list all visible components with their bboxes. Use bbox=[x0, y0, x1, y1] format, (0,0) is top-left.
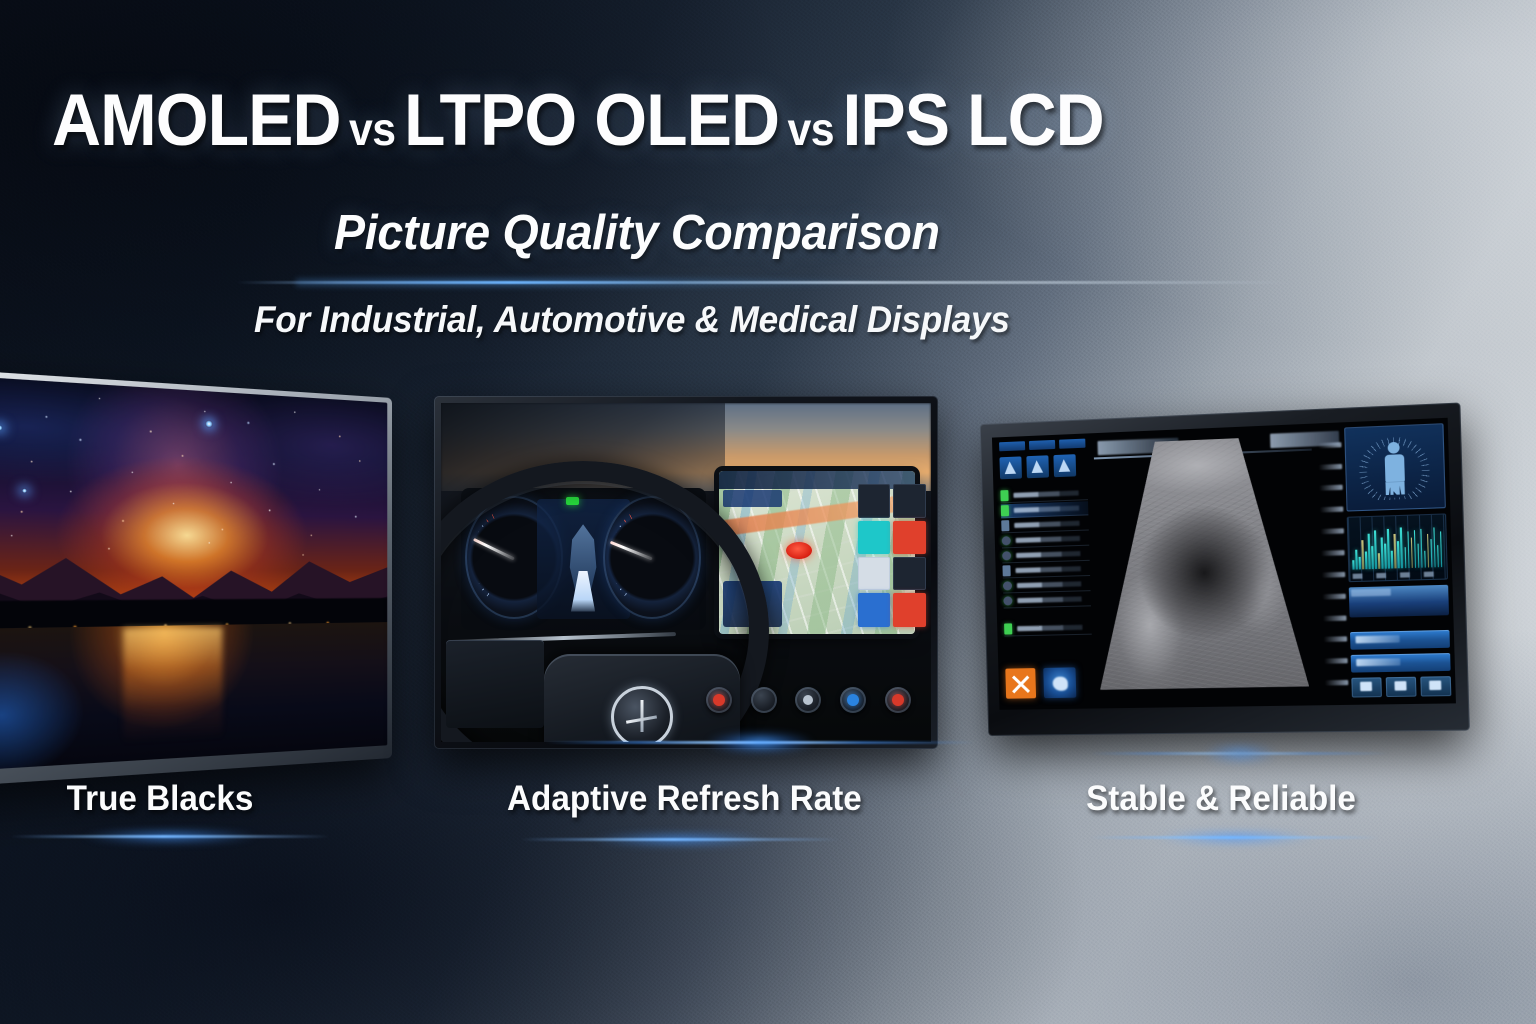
left-control-panel[interactable] bbox=[446, 640, 544, 728]
sidebar-tab[interactable] bbox=[999, 442, 1025, 452]
ultrasound-right-panel[interactable] bbox=[1344, 424, 1451, 700]
chart-bar bbox=[1420, 528, 1423, 567]
status-dot-icon bbox=[1004, 624, 1012, 635]
title-amoled: AMOLED bbox=[52, 80, 341, 161]
page-subtitle: Picture Quality Comparison bbox=[334, 205, 940, 261]
chart-bar bbox=[1410, 538, 1413, 568]
caption-glow-amoled bbox=[10, 835, 330, 838]
chart-bar bbox=[1413, 530, 1416, 568]
probe-mode-icon[interactable] bbox=[1053, 455, 1076, 478]
title-ltpo-oled: LTPO OLED bbox=[404, 80, 779, 161]
display-panel-ltpo-oled[interactable] bbox=[434, 396, 938, 749]
icon-button-row[interactable] bbox=[1351, 676, 1451, 697]
dash-button-white[interactable] bbox=[858, 557, 891, 590]
sidebar-bottom-actions[interactable] bbox=[1005, 668, 1076, 699]
probe-thumbnail-icon[interactable] bbox=[1043, 668, 1076, 699]
status-dot-icon bbox=[1001, 521, 1009, 532]
chart-bar bbox=[1378, 553, 1380, 569]
climate-knob-heat[interactable] bbox=[706, 687, 732, 713]
sun-reflection-streak bbox=[123, 627, 222, 745]
nav-eta-chip bbox=[723, 490, 782, 506]
dash-button[interactable] bbox=[858, 484, 891, 517]
header-divider bbox=[236, 281, 1294, 284]
chart-bar bbox=[1404, 547, 1406, 568]
climate-knob-fan[interactable] bbox=[751, 687, 777, 713]
chart-bar bbox=[1430, 539, 1432, 568]
chart-bar bbox=[1381, 537, 1384, 569]
dash-button-red[interactable] bbox=[893, 521, 926, 554]
list-item[interactable] bbox=[1001, 532, 1089, 549]
depth-scale bbox=[1309, 434, 1349, 694]
status-dot-icon bbox=[1001, 537, 1010, 546]
dash-button-red[interactable] bbox=[893, 593, 926, 626]
chart-bar bbox=[1384, 544, 1386, 569]
vehicle-brand-logo-icon bbox=[611, 686, 673, 743]
chart-bar bbox=[1355, 550, 1357, 570]
dash-button-blue[interactable] bbox=[858, 593, 891, 626]
list-item[interactable] bbox=[1002, 547, 1090, 564]
caption-adaptive-refresh-rate: Adaptive Refresh Rate bbox=[507, 779, 849, 819]
screen-automotive bbox=[441, 403, 931, 742]
probe-mode-icon[interactable] bbox=[999, 457, 1022, 480]
chart-bar bbox=[1433, 527, 1436, 567]
display-panel-amoled[interactable] bbox=[0, 368, 392, 789]
caption-stable-reliable: Stable & Reliable bbox=[1083, 779, 1359, 819]
chart-bar bbox=[1368, 534, 1371, 569]
display-panel-ips-lcd[interactable] bbox=[980, 402, 1470, 736]
dash-button-teal[interactable] bbox=[858, 521, 891, 554]
status-dot-icon bbox=[1002, 582, 1011, 591]
caption-glow-medical bbox=[1090, 836, 1380, 839]
chart-bar bbox=[1374, 531, 1377, 569]
chart-bar bbox=[1427, 534, 1430, 568]
probe-mode-icon[interactable] bbox=[1026, 456, 1049, 479]
list-item[interactable] bbox=[1004, 621, 1092, 637]
lake-reflection bbox=[0, 622, 387, 773]
gain-gradient-bar[interactable] bbox=[1348, 585, 1448, 617]
chart-bar bbox=[1424, 551, 1426, 568]
status-dot-icon bbox=[1003, 597, 1012, 606]
chart-bar bbox=[1353, 561, 1355, 570]
chart-bar bbox=[1400, 527, 1403, 568]
tv-bezel-amoled bbox=[0, 368, 392, 789]
chart-bar bbox=[1359, 557, 1361, 570]
chart-bar bbox=[1372, 546, 1374, 569]
status-dot-icon bbox=[1000, 506, 1008, 517]
monitor-bezel-automotive bbox=[434, 396, 938, 749]
chart-bar bbox=[1365, 552, 1367, 570]
list-item[interactable] bbox=[1002, 577, 1090, 593]
monitor-bezel-medical bbox=[980, 402, 1470, 736]
climate-knob-volume[interactable] bbox=[795, 687, 821, 713]
chart-bar bbox=[1417, 544, 1419, 568]
sidebar-icon-row[interactable] bbox=[999, 454, 1087, 480]
title-vs-1: vs bbox=[341, 103, 404, 155]
ultrasound-scan-image[interactable] bbox=[1093, 435, 1309, 697]
chart-bar bbox=[1407, 531, 1410, 568]
title-vs-2: vs bbox=[779, 103, 842, 155]
sidebar-tab-row[interactable] bbox=[999, 439, 1087, 452]
dashboard-button-grid[interactable] bbox=[858, 484, 927, 626]
dash-button[interactable] bbox=[893, 557, 926, 590]
dash-button[interactable] bbox=[893, 484, 926, 517]
chart-bar bbox=[1394, 534, 1397, 568]
doppler-waveform-chart[interactable] bbox=[1346, 514, 1447, 582]
sidebar-tab[interactable] bbox=[1059, 439, 1085, 449]
action-button[interactable] bbox=[1350, 629, 1450, 649]
screen-medical bbox=[992, 418, 1456, 710]
chart-bar bbox=[1437, 545, 1439, 567]
body-position-diagram[interactable] bbox=[1344, 424, 1446, 512]
right-panel-buttons[interactable] bbox=[1349, 620, 1451, 699]
climate-control-row[interactable] bbox=[706, 674, 912, 725]
body-figure-icon bbox=[1382, 441, 1407, 488]
screen-amoled bbox=[0, 374, 387, 773]
bright-star-icon bbox=[22, 488, 27, 493]
print-icon[interactable] bbox=[1385, 676, 1416, 696]
list-item[interactable] bbox=[1001, 517, 1089, 534]
status-dot-icon bbox=[1002, 552, 1011, 561]
sidebar-tab[interactable] bbox=[1029, 440, 1055, 450]
chart-bar bbox=[1391, 550, 1393, 568]
status-dot-icon bbox=[1002, 566, 1010, 577]
close-icon[interactable] bbox=[1005, 668, 1036, 699]
ultrasound-sidebar[interactable] bbox=[999, 439, 1094, 704]
chart-bar bbox=[1362, 540, 1364, 569]
page-title: AMOLEDvsLTPO OLEDvsIPS LCD bbox=[52, 79, 1104, 162]
settings-icon[interactable] bbox=[1420, 676, 1451, 696]
list-item[interactable] bbox=[1003, 593, 1091, 609]
chart-bar bbox=[1397, 541, 1399, 569]
chart-bars bbox=[1352, 525, 1443, 570]
climate-knob-cool[interactable] bbox=[840, 687, 866, 713]
caption-glow-automotive bbox=[520, 838, 840, 841]
poster-canvas: AMOLEDvsLTPO OLEDvsIPS LCD Picture Quali… bbox=[0, 0, 1536, 1024]
caption-true-blacks: True Blacks bbox=[56, 779, 265, 819]
list-item[interactable] bbox=[1002, 562, 1090, 579]
panel-glow-automotive bbox=[545, 741, 975, 744]
sidebar-secondary-block[interactable] bbox=[1004, 621, 1092, 637]
save-icon[interactable] bbox=[1351, 677, 1382, 697]
preset-list[interactable] bbox=[1000, 486, 1091, 608]
hazard-button[interactable] bbox=[885, 687, 911, 713]
panel-glow-medical bbox=[1090, 752, 1390, 755]
page-tagline: For Industrial, Automotive & Medical Dis… bbox=[254, 299, 1010, 341]
title-ips-lcd: IPS LCD bbox=[842, 80, 1103, 161]
status-dot-icon bbox=[1000, 490, 1008, 501]
chart-bar bbox=[1387, 529, 1390, 569]
action-button[interactable] bbox=[1350, 653, 1450, 673]
